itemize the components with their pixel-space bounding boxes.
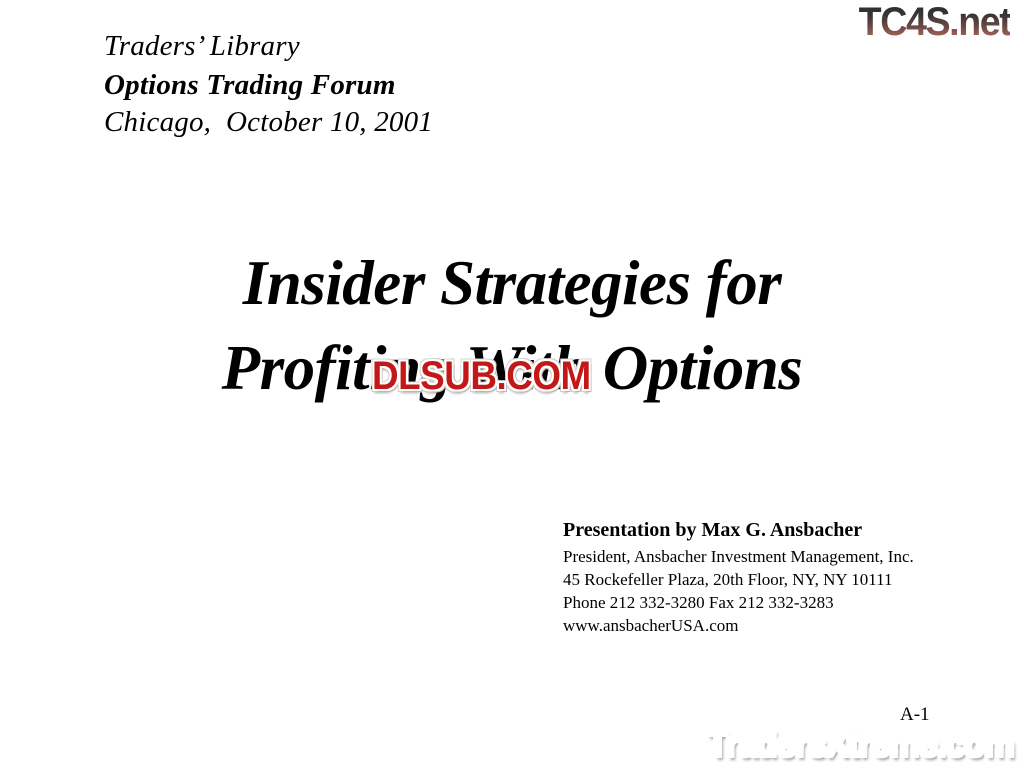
presenter-name: Presentation by Max G. Ansbacher <box>563 520 914 548</box>
slide-header: Traders’ Library Options Trading Forum C… <box>104 32 433 137</box>
watermark-tradersxtreme-com: TradersXtreme.com <box>708 726 1014 762</box>
presenter-info: Presentation by Max G. Ansbacher Preside… <box>563 520 914 640</box>
watermark-tradersxtreme-text: TradersXtreme.com <box>708 723 1014 764</box>
presenter-phone-fax: Phone 212 332-3280 Fax 212 332-3283 <box>563 594 914 617</box>
title-line-1: Insider Strategies for <box>0 252 1024 337</box>
presenter-website: www.ansbacherUSA.com <box>563 617 914 640</box>
presentation-slide: TC4S.net Traders’ Library Options Tradin… <box>0 0 1024 768</box>
header-location-date: Chicago, October 10, 2001 <box>104 108 433 137</box>
watermark-tc4s-net: TC4S.net <box>858 2 1010 42</box>
header-event-name: Options Trading Forum <box>104 71 433 108</box>
presenter-address: 45 Rockefeller Plaza, 20th Floor, NY, NY… <box>563 571 914 594</box>
header-organization: Traders’ Library <box>104 32 433 71</box>
watermark-dlsub-com: DLSUB.COM <box>372 356 591 396</box>
presenter-role-company: President, Ansbacher Investment Manageme… <box>563 548 914 571</box>
